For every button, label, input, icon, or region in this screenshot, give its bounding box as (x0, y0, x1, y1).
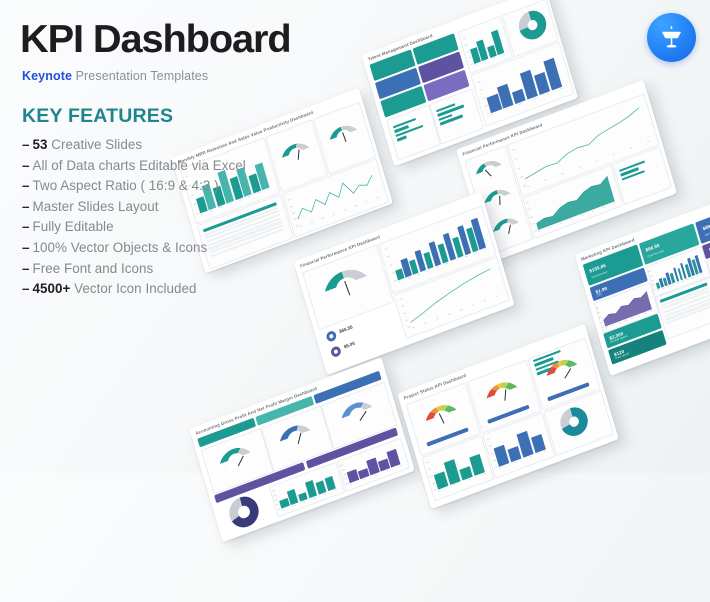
feature-dash: – (22, 240, 30, 255)
feature-dash: – (22, 261, 30, 276)
feature-dash: – (22, 199, 30, 214)
play-icon (325, 330, 337, 343)
feature-item: –100% Vector Objects & Icons (22, 238, 310, 259)
feature-item: –4500+ Vector Icon Included (22, 279, 310, 300)
kpi-label: CPC (596, 293, 602, 298)
feature-text: Vector Icon Included (70, 281, 196, 296)
donut-chart (226, 492, 263, 531)
feature-text: All of Data charts Editable via Excel (33, 158, 246, 173)
kpi-value: $89.30 (702, 221, 710, 231)
keynote-app-icon (647, 13, 696, 62)
feature-item: –53 Creative Slides (22, 135, 310, 156)
subtitle-brand: Keynote (22, 69, 72, 83)
feature-item: –Master Slides Layout (22, 197, 310, 218)
feature-text: 100% Vector Objects & Icons (33, 240, 208, 255)
feature-dash: – (22, 178, 30, 193)
slide-thumbnail[interactable]: Accounting Gross Profit And Net Profit M… (189, 357, 415, 542)
feature-text: Two Aspect Ratio ( 16:9 & 4:3 ) (33, 178, 219, 193)
slide-thumbnail[interactable]: Project Status KPI Dashboard (397, 324, 618, 509)
feature-text: Fully Editable (33, 219, 114, 234)
kpi-label: Avg Order (704, 230, 710, 237)
feature-emphasis: 4500+ (33, 281, 71, 296)
kpi-value: $5.05 (343, 341, 355, 350)
feature-text: Master Slides Layout (33, 199, 159, 214)
play-icon (330, 345, 342, 358)
subtitle-rest: Presentation Templates (72, 69, 208, 83)
feature-item: –All of Data charts Editable via Excel (22, 156, 310, 177)
feature-dash: – (22, 281, 30, 296)
kpi-value: $66.55 (339, 324, 354, 334)
feature-item: –Free Font and Icons (22, 259, 310, 280)
bar (397, 136, 407, 142)
feature-item: –Two Aspect Ratio ( 16:9 & 4:3 ) (22, 176, 310, 197)
features-list: –53 Creative Slides–All of Data charts E… (20, 135, 310, 300)
poster-canvas: KPI Dashboard Keynote Presentation Templ… (0, 0, 710, 473)
feature-text: Creative Slides (48, 137, 143, 152)
page-subtitle: Keynote Presentation Templates (22, 69, 310, 83)
feature-dash: – (22, 219, 30, 234)
info-column: KPI Dashboard Keynote Presentation Templ… (20, 18, 310, 300)
key-features-heading: KEY FEATURES (22, 105, 310, 128)
feature-text: Free Font and Icons (33, 261, 154, 276)
feature-dash: – (22, 137, 30, 152)
feature-item: –Fully Editable (22, 217, 310, 238)
feature-dash: – (22, 158, 30, 173)
page-title: KPI Dashboard (20, 18, 316, 62)
feature-emphasis: 53 (33, 137, 48, 152)
